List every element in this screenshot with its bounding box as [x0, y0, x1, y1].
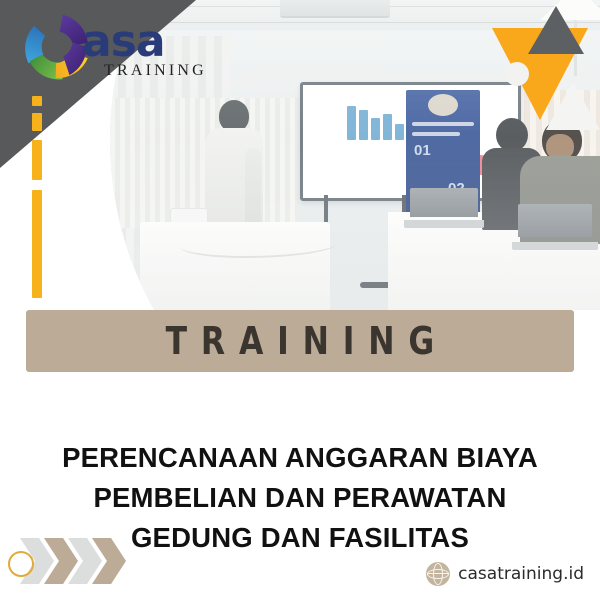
slide-bar — [383, 114, 392, 140]
accent-dash-4 — [32, 190, 42, 298]
logo-tagline: TRAINING — [104, 62, 207, 80]
laptop-base — [404, 220, 484, 228]
website-footer[interactable]: casatraining.id — [426, 562, 584, 586]
laptop — [410, 188, 478, 228]
slide-bar — [347, 106, 356, 140]
accent-dash-2 — [32, 113, 42, 131]
laptop-lid — [410, 188, 478, 217]
headline-line-2: PEMBELIAN DAN PERAWATAN — [0, 478, 600, 518]
laptop-base — [512, 242, 598, 250]
standee-portrait — [428, 94, 458, 116]
slide-bar — [371, 118, 380, 140]
website-text: casatraining.id — [458, 564, 584, 584]
brand-logo[interactable]: asa TRAINING — [18, 6, 208, 96]
standee-text-line — [412, 132, 460, 136]
logo-wordmark: asa TRAINING — [82, 20, 207, 80]
slide-bar — [359, 110, 368, 140]
laptop — [518, 204, 592, 250]
slide-bar — [395, 124, 404, 140]
headline-line-1: PERENCANAAN ANGGARAN BIAYA — [0, 438, 600, 478]
white-circle-decor — [505, 62, 529, 86]
training-banner: TRAINING — [26, 310, 574, 372]
standee-number-1: 01 — [414, 142, 431, 159]
accent-dash-3 — [32, 140, 42, 180]
globe-icon — [426, 562, 450, 586]
poster-canvas: 01 02 — [0, 0, 600, 600]
ring-decor — [8, 551, 34, 577]
accent-dash-1 — [32, 96, 42, 106]
training-banner-label: TRAINING — [152, 319, 448, 363]
standee-text-line — [412, 122, 474, 126]
logo-name: asa — [82, 20, 207, 64]
laptop-lid — [518, 204, 592, 237]
air-conditioner — [280, 0, 390, 18]
